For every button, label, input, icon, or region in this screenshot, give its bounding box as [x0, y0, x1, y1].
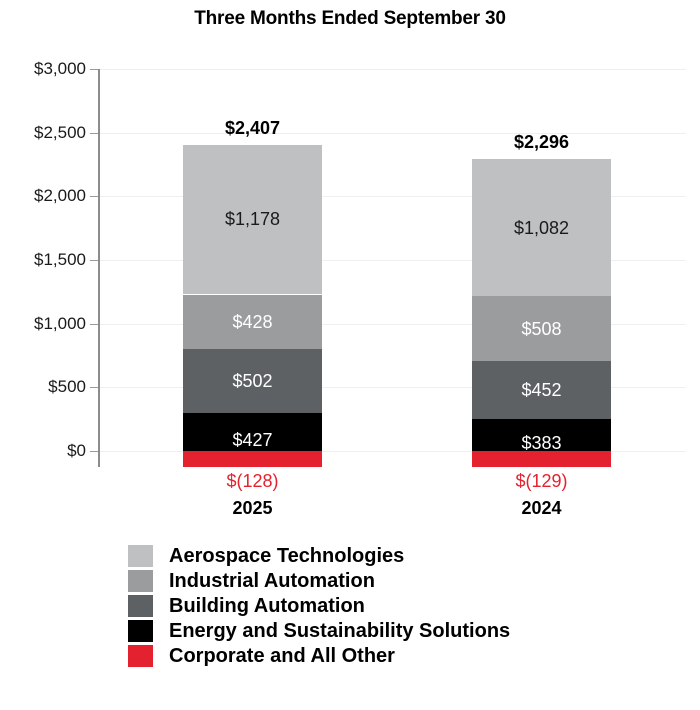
- legend-item[interactable]: Aerospace Technologies: [128, 543, 510, 568]
- y-axis-tick-label: $2,000: [0, 187, 86, 204]
- legend-item-label: Industrial Automation: [169, 571, 375, 591]
- bar-negative-value-label: $(129): [472, 472, 611, 490]
- bar-segment[interactable]: $452: [472, 361, 611, 419]
- bar-segment-value-label: $508: [521, 320, 561, 338]
- bar-total-label: $2,296: [472, 133, 611, 151]
- stacked-bar-chart: Three Months Ended September 30 $3,000$2…: [0, 0, 700, 710]
- bar-total-label: $2,407: [183, 119, 322, 137]
- legend-item-label: Aerospace Technologies: [169, 546, 404, 566]
- bar-segment-value-label: $502: [232, 372, 272, 390]
- bar-segment-negative[interactable]: [472, 451, 611, 467]
- legend-swatch-icon: [128, 595, 153, 617]
- bar-segment[interactable]: $1,178: [183, 145, 322, 295]
- y-axis-tick-label: $0: [0, 442, 86, 459]
- bar-segment[interactable]: $1,082: [472, 159, 611, 297]
- legend-swatch-icon: [128, 620, 153, 642]
- legend-swatch-icon: [128, 545, 153, 567]
- legend-item-label: Energy and Sustainability Solutions: [169, 621, 510, 641]
- bar-segment-value-label: $427: [232, 431, 272, 449]
- y-axis-line: [98, 69, 100, 467]
- bar-negative-value-label: $(128): [183, 472, 322, 490]
- y-axis-tick-label: $500: [0, 378, 86, 395]
- bar-segment-value-label: $383: [521, 434, 561, 452]
- y-axis-tick-label: $3,000: [0, 60, 86, 77]
- bar-segment[interactable]: $502: [183, 349, 322, 413]
- x-axis-category-label: 2025: [183, 499, 322, 517]
- legend-item[interactable]: Energy and Sustainability Solutions: [128, 618, 510, 643]
- bar-segment[interactable]: $508: [472, 296, 611, 361]
- plot-area: $3,000$2,500$2,000$1,500$1,000$500$0 $1,…: [0, 0, 700, 520]
- x-axis-category-label: 2024: [472, 499, 611, 517]
- legend-item[interactable]: Building Automation: [128, 593, 510, 618]
- bar-segment-negative[interactable]: [183, 451, 322, 467]
- y-axis-tick-label: $1,000: [0, 315, 86, 332]
- y-axis-tick-label: $1,500: [0, 251, 86, 268]
- bar-segment[interactable]: $428: [183, 295, 322, 349]
- bar-group-2024[interactable]: $1,082$508$452$383$(129)$2,2962024: [472, 0, 611, 520]
- legend-swatch-icon: [128, 645, 153, 667]
- bar-segment-value-label: $1,178: [225, 210, 280, 228]
- legend-item[interactable]: Corporate and All Other: [128, 643, 510, 668]
- legend-item[interactable]: Industrial Automation: [128, 568, 510, 593]
- legend-swatch-icon: [128, 570, 153, 592]
- chart-legend: Aerospace TechnologiesIndustrial Automat…: [128, 543, 510, 668]
- bar-segment-value-label: $428: [232, 313, 272, 331]
- bar-group-2025[interactable]: $1,178$428$502$427$(128)$2,4072025: [183, 0, 322, 520]
- bar-segment-value-label: $1,082: [514, 219, 569, 237]
- legend-item-label: Corporate and All Other: [169, 646, 395, 666]
- y-axis-tick-label: $2,500: [0, 124, 86, 141]
- legend-item-label: Building Automation: [169, 596, 365, 616]
- bar-segment-value-label: $452: [521, 381, 561, 399]
